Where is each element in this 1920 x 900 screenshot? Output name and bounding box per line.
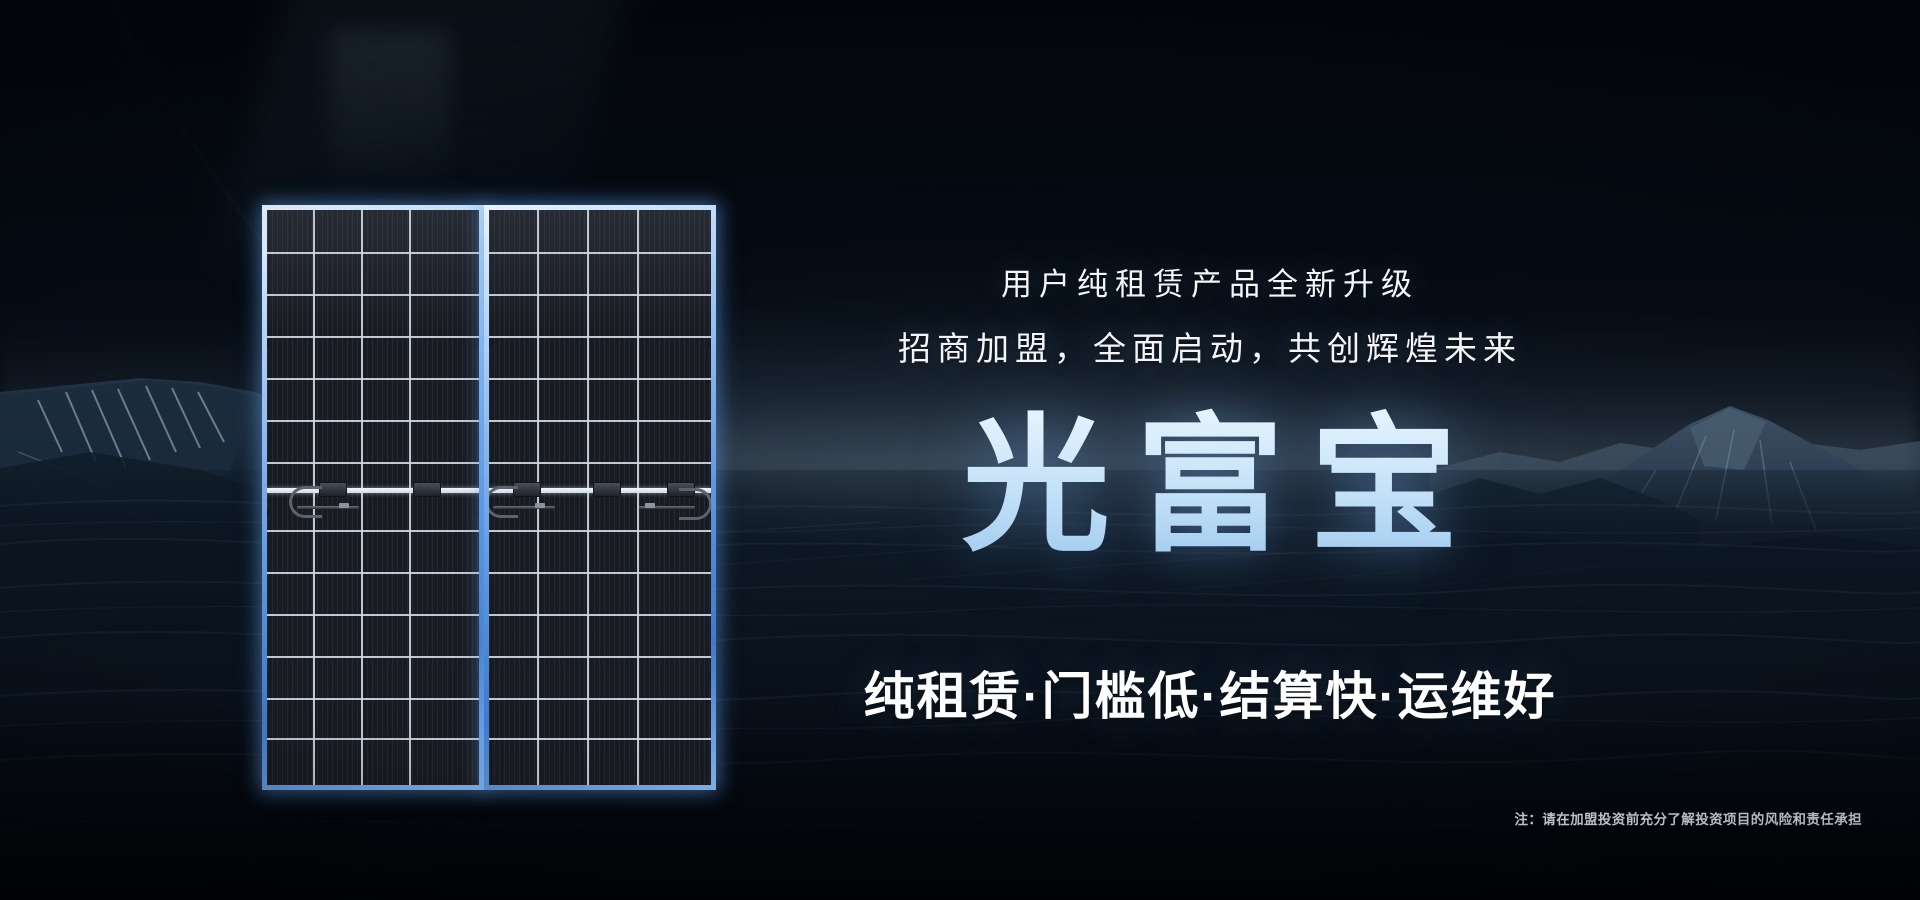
junction-box	[319, 482, 347, 497]
solar-panel-module	[262, 205, 706, 780]
panel-cable	[493, 506, 555, 509]
cable-clip	[535, 503, 545, 508]
panel-cable-loop	[485, 486, 518, 518]
headline-line-2: 招商加盟，全面启动，共创辉煌未来	[760, 322, 1660, 370]
solar-panel-left	[262, 205, 484, 790]
brand-name: 光富宝	[760, 400, 1660, 575]
panel-cable	[297, 506, 359, 509]
junction-box	[413, 482, 441, 497]
headline-line-1: 用户纯租赁产品全新升级	[760, 259, 1660, 304]
promo-banner: 用户纯租赁产品全新升级 招商加盟，全面启动，共创辉煌未来 光富宝 纯租赁·门槛低…	[0, 0, 1920, 900]
junction-box	[593, 482, 621, 497]
panel-cable-loop	[289, 486, 322, 518]
cable-clip	[645, 503, 655, 508]
tagline: 纯租赁·门槛低·结算快·运维好	[760, 655, 1660, 729]
cable-clip	[339, 503, 349, 508]
solar-panel-right	[484, 205, 716, 790]
footnote-disclaimer: 注：请在加盟投资前充分了解投资项目的风险和责任承担	[1515, 808, 1863, 828]
panel-cable-loop	[679, 488, 712, 520]
